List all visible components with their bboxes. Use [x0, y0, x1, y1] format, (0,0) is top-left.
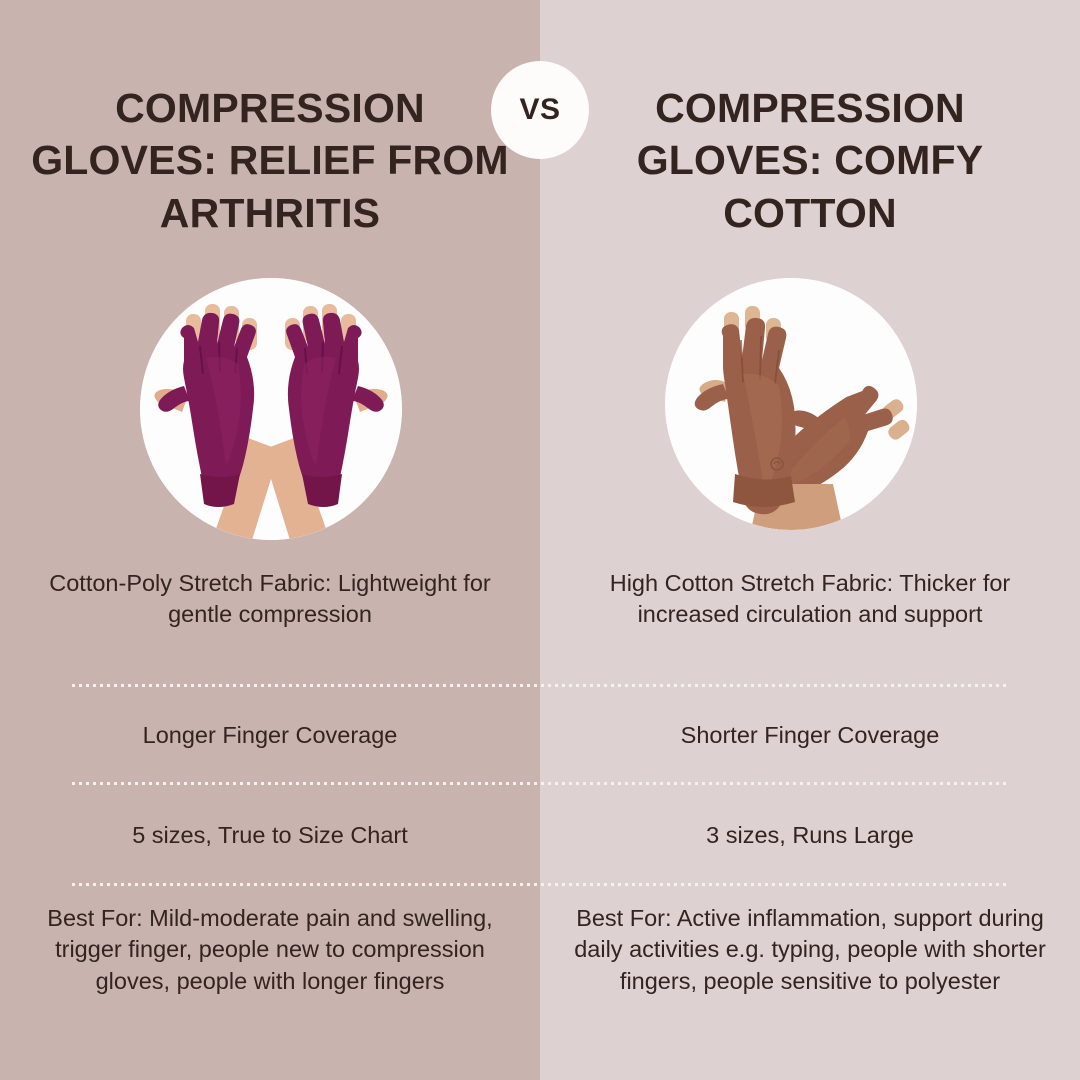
right-product-image	[665, 278, 917, 530]
row-divider-1	[72, 684, 1008, 687]
right-product-title: COMPRESSION GLOVES: COMFY COTTON	[570, 82, 1050, 239]
row-divider-3	[72, 883, 1008, 886]
versus-label: VS	[519, 93, 560, 127]
left-feature-1: Longer Finger Coverage	[26, 720, 514, 751]
brown-gloves-illustration	[665, 278, 917, 530]
comparison-infographic: COMPRESSION GLOVES: RELIEF FROM ARTHRITI…	[0, 0, 1080, 1080]
left-feature-0: Cotton-Poly Stretch Fabric: Lightweight …	[26, 568, 514, 631]
left-feature-2: 5 sizes, True to Size Chart	[26, 820, 514, 851]
right-feature-3: Best For: Active inflammation, support d…	[566, 903, 1054, 997]
versus-badge: VS	[491, 61, 589, 159]
left-product-title: COMPRESSION GLOVES: RELIEF FROM ARTHRITI…	[30, 82, 510, 239]
left-product-image	[140, 278, 402, 540]
purple-gloves-illustration	[140, 278, 402, 540]
row-divider-2	[72, 782, 1008, 785]
left-feature-3: Best For: Mild-moderate pain and swellin…	[26, 903, 514, 997]
right-feature-2: 3 sizes, Runs Large	[566, 820, 1054, 851]
right-feature-0: High Cotton Stretch Fabric: Thicker for …	[566, 568, 1054, 631]
left-column: COMPRESSION GLOVES: RELIEF FROM ARTHRITI…	[0, 0, 540, 1080]
right-column: COMPRESSION GLOVES: COMFY COTTON	[540, 0, 1080, 1080]
right-feature-1: Shorter Finger Coverage	[566, 720, 1054, 751]
